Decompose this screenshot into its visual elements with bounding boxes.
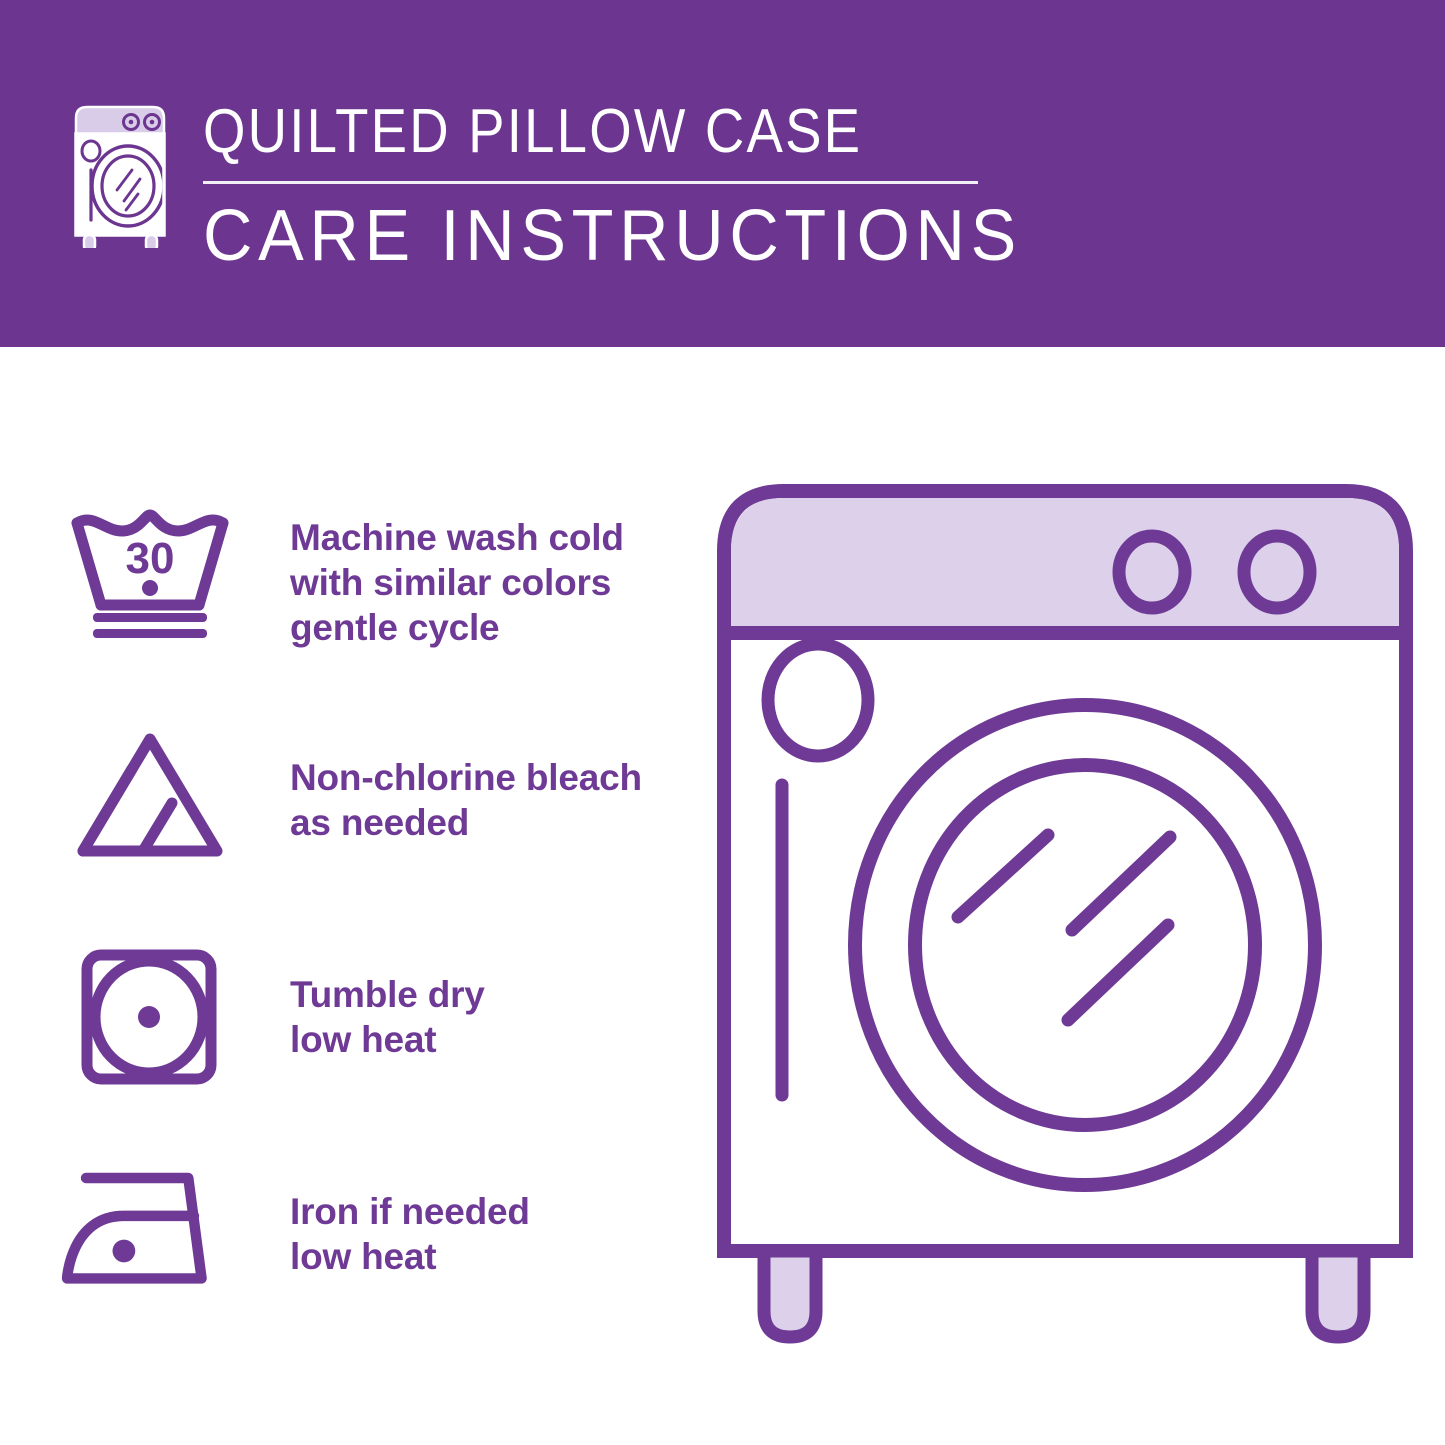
care-item-text: Non-chlorine bleach as needed: [290, 755, 642, 845]
care-item-text: Iron if needed low heat: [290, 1189, 530, 1279]
care-line-1: Machine wash cold: [290, 515, 624, 560]
tumble-dry-icon: [60, 932, 240, 1102]
care-line-3: gentle cycle: [290, 605, 624, 650]
care-line-2: with similar colors: [290, 560, 624, 605]
title-divider: [203, 181, 978, 184]
washing-machine-illustration: [700, 455, 1430, 1385]
wash-temperature-label: 30: [126, 534, 175, 583]
bleach-triangle-icon: [60, 717, 240, 887]
care-line-2: as needed: [290, 800, 642, 845]
care-line-1: Non-chlorine bleach: [290, 755, 642, 800]
care-item-text: Tumble dry low heat: [290, 972, 485, 1062]
iron-icon: [50, 1147, 230, 1317]
care-line-2: low heat: [290, 1017, 485, 1062]
care-line-1: Iron if needed: [290, 1189, 530, 1234]
control-knob-left: [1119, 536, 1185, 608]
care-line-1: Tumble dry: [290, 972, 485, 1017]
header-text-block: QUILTED PILLOW CASE CARE INSTRUCTIONS: [203, 96, 1003, 276]
care-symbol-list: 30 Machine wash cold with similar colors…: [0, 347, 700, 1445]
washing-machine-icon: [62, 98, 192, 248]
care-line-2: low heat: [290, 1234, 530, 1279]
page-title: QUILTED PILLOW CASE: [203, 96, 907, 168]
wash-tub-30-icon: 30: [60, 495, 240, 665]
control-knob-right: [1244, 536, 1310, 608]
machine-leg-right: [1312, 1251, 1364, 1337]
page-subtitle: CARE INSTRUCTIONS: [203, 196, 963, 276]
machine-leg-left: [764, 1251, 816, 1337]
care-item-text: Machine wash cold with similar colors ge…: [290, 515, 624, 650]
header-banner: QUILTED PILLOW CASE CARE INSTRUCTIONS: [0, 0, 1445, 347]
care-instructions-page: QUILTED PILLOW CASE CARE INSTRUCTIONS 30: [0, 0, 1445, 1445]
